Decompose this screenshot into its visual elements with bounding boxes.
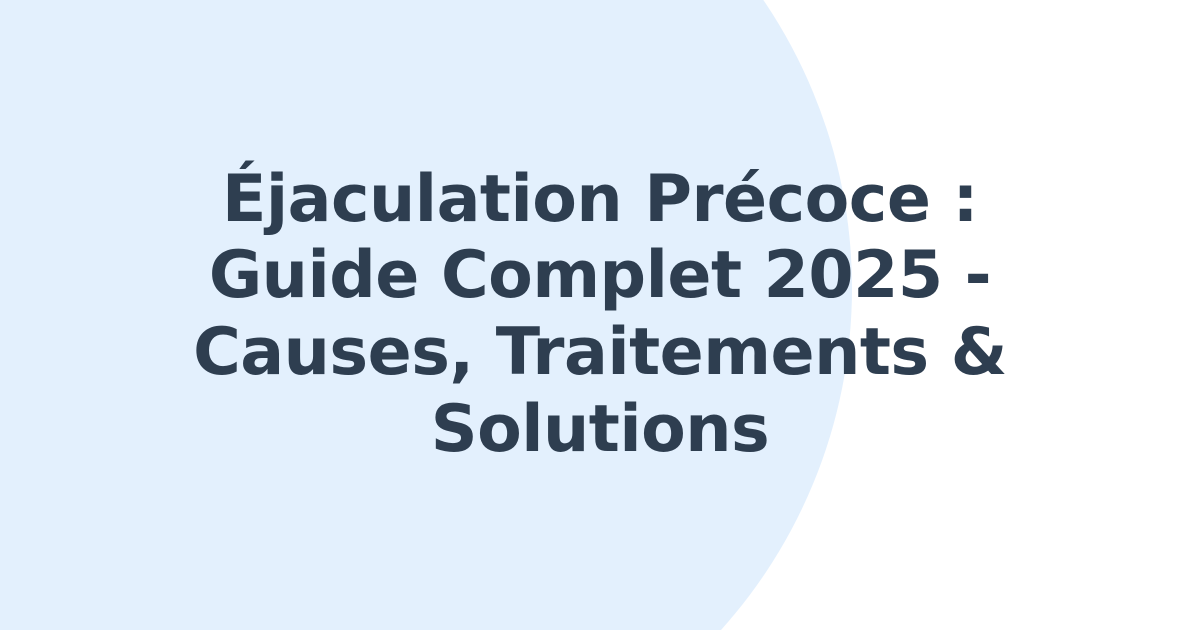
card-content: Éjaculation Précoce : Guide Complet 2025… <box>0 0 1200 630</box>
og-card: Éjaculation Précoce : Guide Complet 2025… <box>0 0 1200 630</box>
page-title: Éjaculation Précoce : Guide Complet 2025… <box>120 162 1080 469</box>
